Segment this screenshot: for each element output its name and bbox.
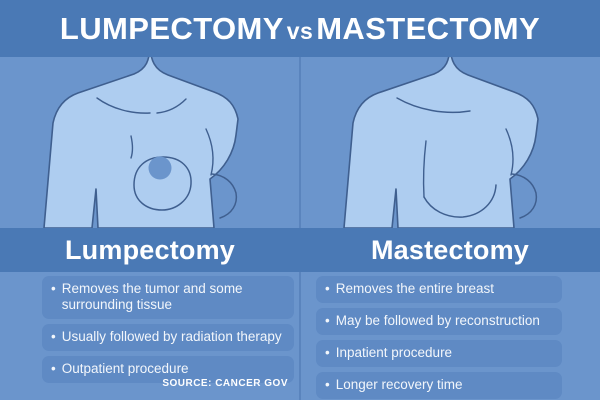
tumor-marker-icon: [149, 157, 172, 180]
list-item-label: Outpatient procedure: [62, 361, 285, 377]
bullet-dot-icon: •: [51, 361, 56, 377]
list-item: • Removes the entire breast: [316, 276, 562, 303]
illustration-lumpectomy: [0, 57, 300, 228]
list-item-label: Inpatient procedure: [336, 345, 553, 361]
female-torso-plain-icon: [300, 57, 600, 228]
bullet-dot-icon: •: [325, 313, 330, 329]
subtitle-lumpectomy: Lumpectomy: [0, 228, 300, 272]
bullet-dot-icon: •: [51, 281, 56, 297]
source-attribution: SOURCE: CANCER GOV: [0, 378, 288, 389]
bullet-dot-icon: •: [325, 345, 330, 361]
illustration-mastectomy: [300, 57, 600, 228]
female-torso-with-tumor-icon: [0, 57, 300, 228]
list-item: • May be followed by reconstruction: [316, 308, 562, 335]
bullet-dot-icon: •: [51, 329, 56, 345]
bullet-dot-icon: •: [325, 281, 330, 297]
title-vs-separator: vs: [284, 18, 316, 44]
list-item-label: May be followed by reconstruction: [336, 313, 553, 329]
list-item: • Inpatient procedure: [316, 340, 562, 367]
title-band: LUMPECTOMYvsMASTECTOMY: [0, 0, 600, 57]
page-title: LUMPECTOMYvsMASTECTOMY: [60, 11, 540, 47]
list-item: • Longer recovery time: [316, 372, 562, 399]
list-item-label: Longer recovery time: [336, 377, 553, 393]
bullet-dot-icon: •: [325, 377, 330, 393]
title-left-term: LUMPECTOMY: [60, 11, 284, 46]
list-item: • Removes the tumor and some surrounding…: [42, 276, 294, 319]
infographic-root: LUMPECTOMYvsMASTECTOMY: [0, 0, 600, 400]
subtitle-mastectomy: Mastectomy: [300, 228, 600, 272]
title-right-term: MASTECTOMY: [316, 11, 540, 46]
bullet-list-mastectomy: • Removes the entire breast • May be fol…: [300, 276, 600, 400]
list-item-label: Usually followed by radiation therapy: [62, 329, 285, 345]
list-item-label: Removes the entire breast: [336, 281, 553, 297]
list-item-label: Removes the tumor and some surrounding t…: [62, 281, 285, 313]
list-item: • Usually followed by radiation therapy: [42, 324, 294, 351]
